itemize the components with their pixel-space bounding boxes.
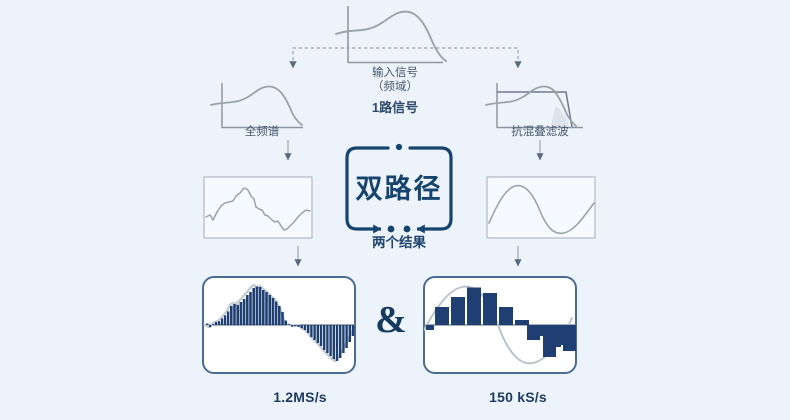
dual-path-node: 双路径 (343, 146, 455, 230)
dual-path-title: 双路径 (356, 167, 443, 206)
input-signal-line1: 输入信号 (372, 67, 418, 79)
input-signal-line2: （频域） (372, 81, 418, 93)
input-count-label: 1路信号 (372, 100, 418, 116)
input-signal-label: 输入信号 （频域） (372, 66, 418, 95)
combiner-ampersand: & (375, 298, 407, 342)
diagram-labels: 输入信号 （频域） 1路信号 全频谱 抗混叠滤波 两个结果 1.2MS/s 15… (0, 0, 790, 420)
full-spectrum-label: 全频谱 (245, 125, 280, 139)
left-sample-rate-label: 1.2MS/s (273, 389, 327, 407)
right-sample-rate-label: 150 kS/s (489, 389, 547, 407)
anti-alias-label: 抗混叠滤波 (511, 125, 569, 139)
diagram-canvas: 输入信号 （频域） 1路信号 全频谱 抗混叠滤波 两个结果 1.2MS/s 15… (0, 0, 790, 420)
two-results-label: 两个结果 (372, 235, 426, 252)
